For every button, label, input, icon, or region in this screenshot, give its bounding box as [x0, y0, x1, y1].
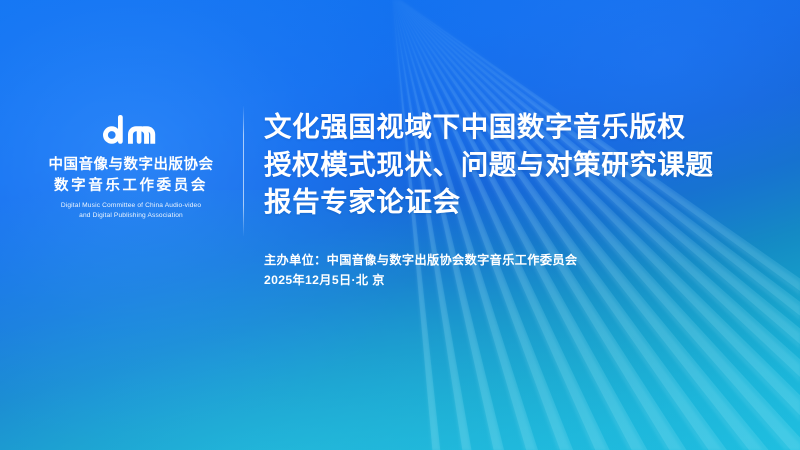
brand-english-line-2: and Digital Publishing Association [22, 211, 240, 221]
brand-block: 中国音像与数字出版协会 数字音乐工作委员会 Digital Music Comm… [22, 112, 240, 222]
organizer-text: 主办单位：中国音像与数字出版协会数字音乐工作委员会 [264, 250, 776, 270]
date-location-text: 2025年12月5日·北 京 [264, 270, 776, 290]
vertical-divider [243, 106, 244, 236]
event-title-line-2: 授权模式现状、问题与对策研究课题 [264, 146, 776, 184]
event-meta: 主办单位：中国音像与数字出版协会数字音乐工作委员会 2025年12月5日·北 京 [264, 250, 776, 290]
event-title: 文化强国视域下中国数字音乐版权 授权模式现状、问题与对策研究课题 报告专家论证会 [264, 108, 776, 221]
brand-name-line-1: 中国音像与数字出版协会 [22, 155, 240, 176]
conference-banner: 中国音像与数字出版协会 数字音乐工作委员会 Digital Music Comm… [0, 0, 800, 450]
brand-name-line-2: 数字音乐工作委员会 [22, 176, 240, 197]
dm-music-logo-icon [22, 112, 240, 148]
main-text-block: 文化强国视域下中国数字音乐版权 授权模式现状、问题与对策研究课题 报告专家论证会… [264, 108, 776, 290]
brand-english-line-1: Digital Music Committee of China Audio-v… [22, 201, 240, 211]
event-title-line-1: 文化强国视域下中国数字音乐版权 [264, 108, 776, 146]
event-title-line-3: 报告专家论证会 [264, 183, 776, 221]
